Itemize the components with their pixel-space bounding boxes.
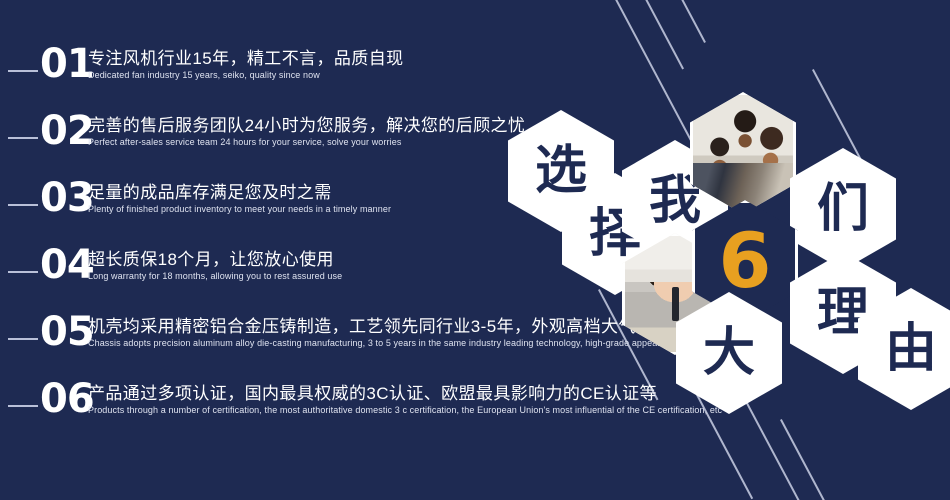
hexagon-label: 大	[703, 327, 755, 379]
promo-banner: 01 专注风机行业15年，精工不言，品质自现 Dedicated fan ind…	[0, 0, 950, 500]
headline-hexagon-cluster: 选 择 我 们 6 理	[0, 0, 950, 500]
hexagon-char-men: 们	[790, 148, 896, 270]
hexagon-label: 们	[817, 183, 869, 235]
hexagon-label: 由	[885, 323, 937, 375]
hexagon-label: 选	[535, 145, 587, 197]
